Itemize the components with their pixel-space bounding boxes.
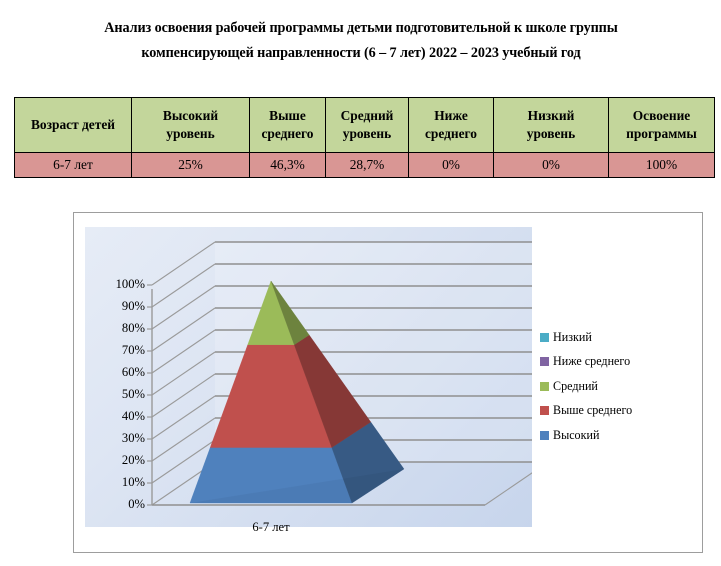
table-cell-high: 25% [132,153,250,178]
table-header-text: среднего [425,126,477,141]
legend-swatch-icon [540,357,549,366]
y-axis-tick-label: 0% [89,498,145,510]
legend-swatch-icon [540,333,549,342]
table-header-text: Освоение [633,108,691,123]
page-title: Анализ освоения рабочей программы детьми… [55,16,667,66]
table-header-cell-below-average: Ниже среднего [409,98,494,153]
legend-swatch-icon [540,382,549,391]
legend-item-label: Ниже среднего [553,354,630,369]
legend-item-label: Выше среднего [553,403,632,418]
table-header-row: Возраст детей Высокий уровень Выше средн… [15,98,715,153]
y-axis-tick-label: 60% [89,366,145,378]
table-header-cell-age: Возраст детей [15,98,132,153]
chart-graphics [85,227,532,527]
page-title-line-2: компенсирующей направленности (6 – 7 лет… [55,41,667,66]
legend-item[interactable]: Ниже среднего [540,350,690,375]
table-header-text: Средний [341,108,394,123]
legend-item-label: Средний [553,379,598,394]
y-axis-tick-label: 90% [89,300,145,312]
y-axis-tick-label: 30% [89,432,145,444]
legend-item[interactable]: Средний [540,374,690,399]
table-cell-program-mastery: 100% [609,153,715,178]
table-header-text: Низкий [528,108,575,123]
legend-item[interactable]: Низкий [540,325,690,350]
table-header-text: Высокий [163,108,218,123]
legend-swatch-icon [540,431,549,440]
y-axis-tick-label: 40% [89,410,145,422]
page-title-line-1: Анализ освоения рабочей программы детьми… [55,16,667,41]
table-header-text: Выше [269,108,306,123]
y-axis-tick-label: 20% [89,454,145,466]
results-table: Возраст детей Высокий уровень Выше средн… [14,97,715,178]
y-axis-tick-label: 50% [89,388,145,400]
legend-item[interactable]: Выше среднего [540,399,690,424]
table-header-text: Ниже [434,108,468,123]
y-axis-tick-label: 80% [89,322,145,334]
y-axis-tick-label: 70% [89,344,145,356]
chart-container: 100%90%80%70%60%50%40%30%20%10%0% 6-7 ле… [73,212,703,553]
table-header-text: программы [626,126,697,141]
legend-swatch-icon [540,406,549,415]
table-row: 6-7 лет 25% 46,3% 28,7% 0% 0% 100% [15,153,715,178]
table-header-cell-program-mastery: Освоение программы [609,98,715,153]
table-header-cell-average: Средний уровень [326,98,409,153]
chart-plot-area [85,227,532,527]
table-cell-low: 0% [494,153,609,178]
table-header-text: уровень [527,126,575,141]
y-axis-tick-label: 100% [89,278,145,290]
table-header-cell-low: Низкий уровень [494,98,609,153]
legend-item-label: Высокий [553,428,599,443]
y-axis-tick-label: 10% [89,476,145,488]
table-header-text: уровень [166,126,214,141]
table-cell-above-average: 46,3% [250,153,326,178]
legend-item[interactable]: Высокий [540,423,690,448]
table-header-cell-above-average: Выше среднего [250,98,326,153]
table-header-cell-high: Высокий уровень [132,98,250,153]
table-header-text: уровень [343,126,391,141]
table-header-text: среднего [261,126,313,141]
table-cell-average: 28,7% [326,153,409,178]
table-cell-below-average: 0% [409,153,494,178]
table-header-text: Возраст детей [31,117,115,132]
legend-item-label: Низкий [553,330,592,345]
table-cell-age: 6-7 лет [15,153,132,178]
chart-legend: НизкийНиже среднегоСреднийВыше среднегоВ… [540,325,690,448]
chart-x-axis-label: 6-7 лет [181,520,361,535]
